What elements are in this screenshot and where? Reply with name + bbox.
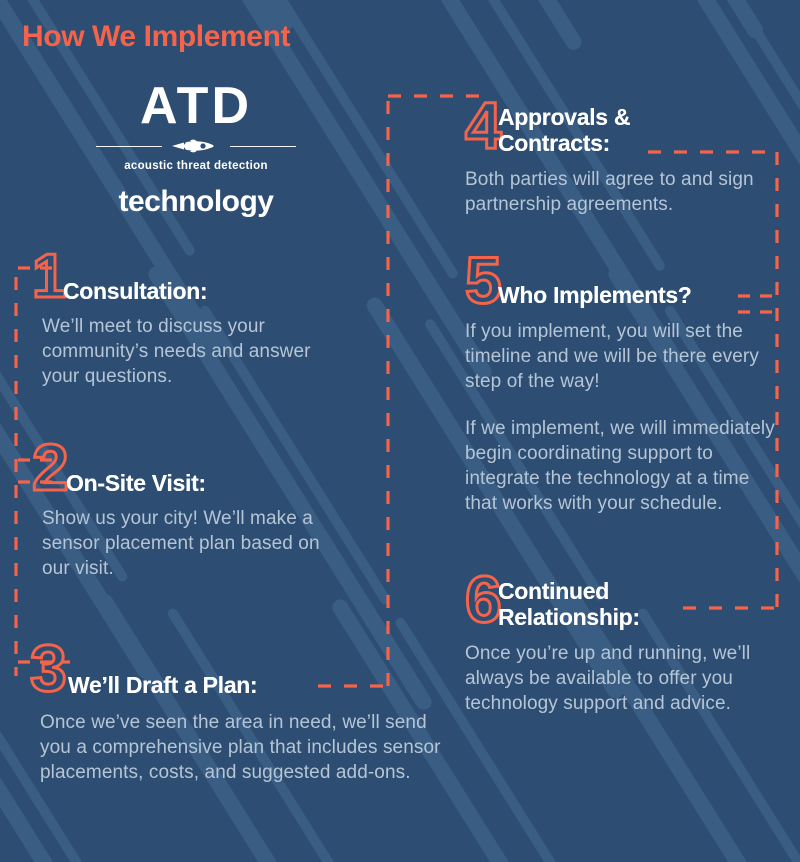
logo-tagline: acoustic threat detection <box>68 160 324 172</box>
logo-acronym: ATD <box>68 78 324 134</box>
logo-divider-row <box>68 136 324 156</box>
step-5-paragraph-1: If you implement, you will set the timel… <box>465 319 773 394</box>
rocket-sound-wave-icon <box>170 136 222 156</box>
step-1: 1 Consultation: We’ll meet to discuss yo… <box>32 278 332 389</box>
step-4-header: 4 Approvals & Contracts: <box>465 104 765 156</box>
step-4: 4 Approvals & Contracts: Both parties wi… <box>465 104 765 217</box>
step-6-paragraph: Once you’re up and running, we’ll always… <box>465 641 780 716</box>
step-6-header: 6 Continued Relationship: <box>465 578 780 630</box>
page-title: How We Implement <box>22 20 290 54</box>
step-1-title: Consultation: <box>32 278 332 304</box>
atd-logo: ATD acoustic threat detection technology <box>68 78 324 219</box>
step-3: 3 We’ll Draft a Plan: Once we’ve seen th… <box>32 672 452 785</box>
step-2-header: 2 On-Site Visit: <box>32 470 332 496</box>
step-2-title: On-Site Visit: <box>32 470 332 496</box>
step-4-title: Approvals & Contracts: <box>465 104 728 156</box>
logo-word-technology: technology <box>68 185 324 219</box>
step-4-paragraph: Both parties will agree to and sign part… <box>465 167 757 217</box>
step-6: 6 Continued Relationship: Once you’re up… <box>465 578 780 716</box>
step-5-title: Who Implements? <box>465 282 775 308</box>
step-3-header: 3 We’ll Draft a Plan: <box>32 672 452 698</box>
step-5-header: 5 Who Implements? <box>465 282 775 308</box>
logo-rule-left <box>96 146 162 147</box>
step-3-title: We’ll Draft a Plan: <box>32 672 452 698</box>
step-5-paragraph-2: If we implement, we will immediately beg… <box>465 416 780 516</box>
step-1-header: 1 Consultation: <box>32 278 332 304</box>
logo-rule-right <box>230 146 296 147</box>
step-2-paragraph: Show us your city! We’ll make a sensor p… <box>32 506 334 581</box>
step-2: 2 On-Site Visit: Show us your city! We’l… <box>32 470 332 581</box>
step-5: 5 Who Implements? If you implement, you … <box>465 282 775 516</box>
step-3-paragraph: Once we’ve seen the area in need, we’ll … <box>32 710 454 785</box>
infographic-canvas: How We Implement ATD acoustic threat det… <box>0 0 800 862</box>
step-1-paragraph: We’ll meet to discuss your community’s n… <box>32 314 334 389</box>
step-6-title: Continued Relationship: <box>465 578 733 630</box>
